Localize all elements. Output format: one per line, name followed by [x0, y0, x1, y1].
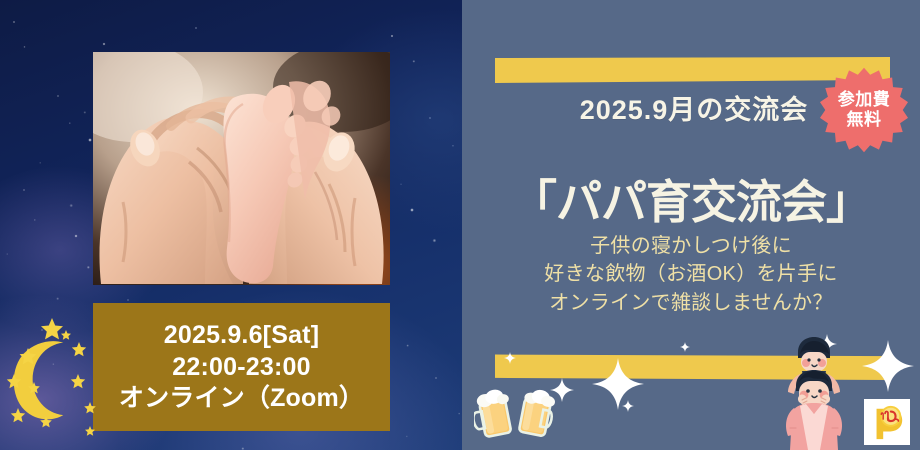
description-line-2: 好きな飲物（お酒OK）を片手に: [462, 260, 920, 288]
event-time: 22:00-23:00: [172, 352, 310, 383]
badge-line-1: 参加費: [838, 90, 891, 110]
right-panel-content: 2025.9月の交流会 参加費 無料 「パパ育交流会」 子供の寝かしつけ後に 好…: [462, 0, 920, 450]
sparkle-icon: [550, 378, 574, 402]
sparkle-icon: [592, 358, 644, 410]
organization-logo: [864, 399, 910, 445]
sparkle-icon: [862, 340, 914, 392]
event-description: 子供の寝かしつけ後に 好きな飲物（お酒OK）を片手に オンラインで雑談しませんか…: [462, 232, 920, 317]
free-admission-badge: 参加費 無料: [820, 66, 908, 154]
beer-mugs-icon: [474, 382, 560, 442]
left-panel-night-sky: 2025.9.6[Sat] 22:00-23:00 オンライン（Zoom）: [0, 0, 462, 450]
event-date: 2025.9.6[Sat]: [164, 320, 319, 351]
event-location: オンライン（Zoom）: [119, 383, 364, 414]
description-line-3: オンラインで雑談しませんか？: [462, 289, 920, 317]
event-datetime-box: 2025.9.6[Sat] 22:00-23:00 オンライン（Zoom）: [93, 303, 390, 431]
sparkle-icon: [504, 352, 516, 364]
moon-and-stars-decoration: [4, 312, 96, 440]
sparkle-icon: [680, 342, 690, 352]
event-flyer: 2025.9.6[Sat] 22:00-23:00 オンライン（Zoom）: [0, 0, 920, 450]
p-logo-icon: [868, 403, 906, 441]
event-title-text: 「パパ育交流会」: [511, 176, 871, 228]
badge-line-2: 無料: [847, 110, 882, 130]
event-heading-text: 2025.9月の交流会: [580, 95, 809, 125]
baby-feet-photo: [93, 52, 390, 285]
description-line-1: 子供の寝かしつけ後に: [462, 232, 920, 260]
father-and-child-illustration: [772, 336, 856, 450]
sparkle-icon: [622, 400, 634, 412]
event-title: 「パパ育交流会」: [462, 166, 920, 232]
